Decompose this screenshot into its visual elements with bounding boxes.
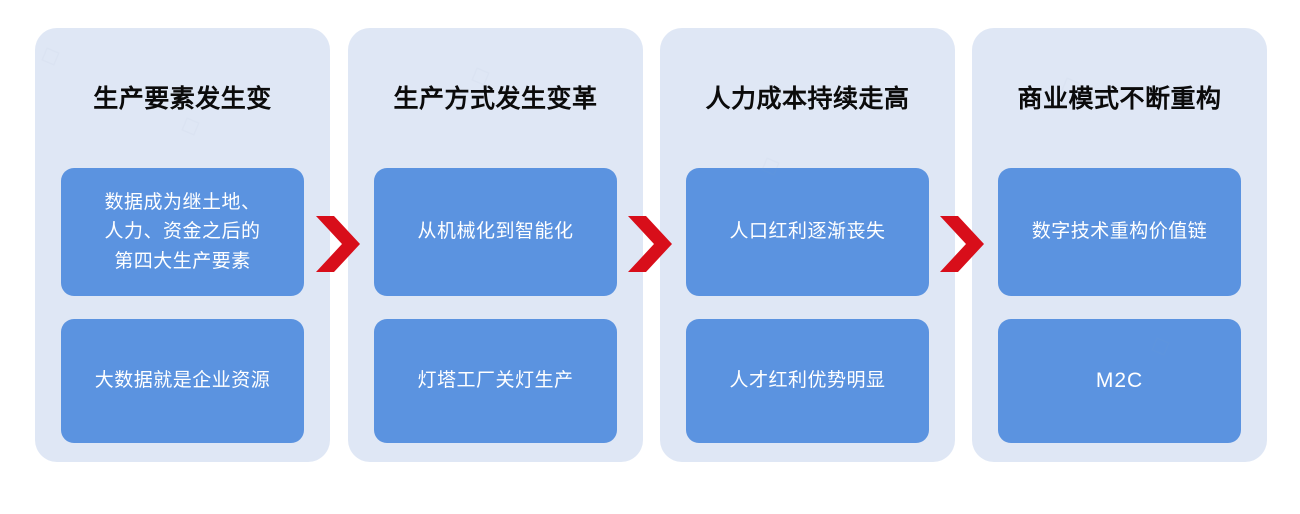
- stage-2-card-2[interactable]: 灯塔工厂关灯生产: [374, 319, 617, 443]
- chevron-right-icon: [314, 214, 362, 274]
- process-flow-diagram: 生产要素发生变 数据成为继土地、 人力、资金之后的 第四大生产要素 大数据就是企…: [0, 0, 1300, 514]
- stage-3-card-1[interactable]: 人口红利逐渐丧失: [686, 168, 929, 296]
- stage-4-card-2[interactable]: M2C: [998, 319, 1241, 443]
- stage-1-card-1[interactable]: 数据成为继土地、 人力、资金之后的 第四大生产要素: [61, 168, 304, 296]
- card-label: 从机械化到智能化: [417, 217, 573, 246]
- chevron-right-icon: [938, 214, 986, 274]
- card-label: 数字技术重构价值链: [1032, 217, 1208, 246]
- card-label: 数据成为继土地、 人力、资金之后的 第四大生产要素: [104, 188, 260, 276]
- stage-title-1: 生产要素发生变: [35, 84, 330, 114]
- card-label: 大数据就是企业资源: [95, 366, 271, 395]
- chevron-right-icon: [626, 214, 674, 274]
- stage-3-card-2[interactable]: 人才红利优势明显: [686, 319, 929, 443]
- stage-title-2: 生产方式发生变革: [348, 84, 643, 114]
- stage-panel-1[interactable]: 生产要素发生变 数据成为继土地、 人力、资金之后的 第四大生产要素 大数据就是企…: [35, 28, 330, 462]
- card-label: 人口红利逐渐丧失: [729, 217, 885, 246]
- stage-panel-2[interactable]: 生产方式发生变革 从机械化到智能化 灯塔工厂关灯生产: [348, 28, 643, 462]
- stage-panel-3[interactable]: 人力成本持续走高 人口红利逐渐丧失 人才红利优势明显: [660, 28, 955, 462]
- stage-4-card-1[interactable]: 数字技术重构价值链: [998, 168, 1241, 296]
- card-label: 人才红利优势明显: [729, 366, 885, 395]
- card-label: 灯塔工厂关灯生产: [417, 366, 573, 395]
- stage-1-card-2[interactable]: 大数据就是企业资源: [61, 319, 304, 443]
- stage-panel-4[interactable]: 商业模式不断重构 数字技术重构价值链 M2C: [972, 28, 1267, 462]
- stage-title-4: 商业模式不断重构: [972, 84, 1267, 114]
- stage-2-card-1[interactable]: 从机械化到智能化: [374, 168, 617, 296]
- card-label: M2C: [1096, 365, 1143, 398]
- stage-title-3: 人力成本持续走高: [660, 84, 955, 114]
